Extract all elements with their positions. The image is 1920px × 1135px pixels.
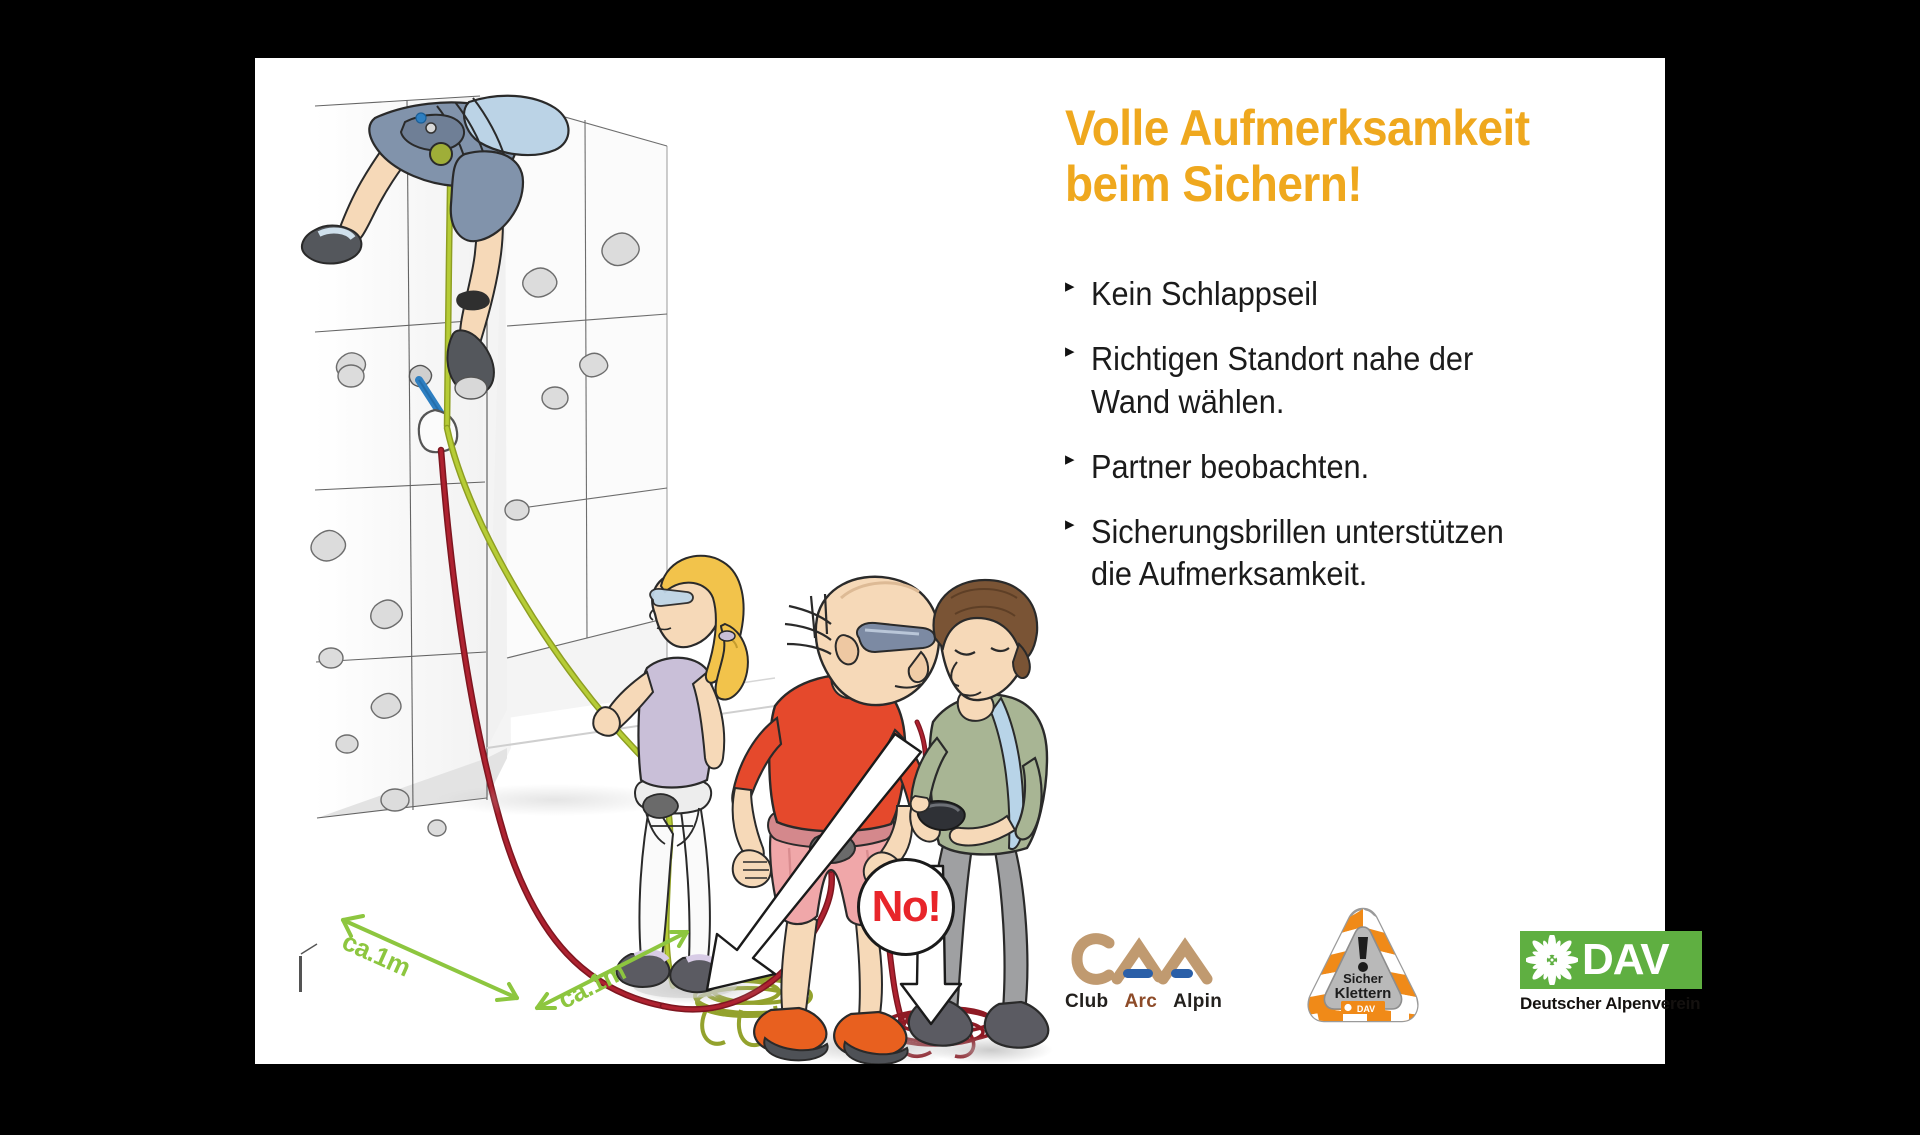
list-item-label: Richtigen Standort nahe der Wand wählen.: [1091, 338, 1473, 424]
climbing-illustration: ca.1m ca.1m No!: [255, 58, 1055, 1064]
list-item-label: Partner beobachten.: [1091, 446, 1369, 489]
poster-card: ca.1m ca.1m No! Volle Aufmerksamkeit bei…: [255, 58, 1665, 1064]
bullet-triangle-icon: ▸: [1065, 446, 1091, 473]
caa-word-alpin: Alpin: [1173, 991, 1222, 1012]
page-title-line-1: Volle Aufmerksamkeit: [1065, 100, 1580, 156]
logo-sicher-klettern: Sicher Klettern DAV: [1303, 903, 1423, 1031]
screenshot-root: ca.1m ca.1m No! Volle Aufmerksamkeit bei…: [0, 0, 1920, 1135]
warning-badge-no: No!: [857, 858, 955, 956]
dav-abbr: DAV: [1582, 938, 1669, 982]
list-item-label: Kein Schlappseil: [1091, 273, 1318, 316]
dav-tag-label: DAV: [1357, 1004, 1375, 1014]
caa-word-arc: Arc: [1124, 991, 1157, 1012]
bullet-triangle-icon: ▸: [1065, 338, 1091, 365]
bullet-triangle-icon: ▸: [1065, 511, 1091, 538]
list-item-label: Sicherungsbrillen unterstützen die Aufme…: [1091, 511, 1504, 597]
club-arc-alpin-mark: [1065, 925, 1225, 989]
credit-watermark: [299, 944, 317, 992]
logo-club-arc-alpin: Club Arc Alpin: [1065, 925, 1225, 1035]
warning-badge-label: No!: [872, 885, 941, 929]
edelweiss-icon: [1526, 935, 1578, 985]
logo-dav: DAV Deutscher Alpenverein: [1520, 931, 1710, 1014]
list-item: ▸ Partner beobachten.: [1065, 446, 1645, 489]
club-arc-alpin-wordmark: Club Arc Alpin: [1065, 991, 1225, 1013]
logo-row: Club Arc Alpin: [1065, 903, 1665, 1033]
list-item: ▸ Sicherungsbrillen unterstützen die Auf…: [1065, 511, 1645, 597]
dav-green-bar: DAV: [1520, 931, 1702, 989]
list-item: ▸ Kein Schlappseil: [1065, 273, 1645, 316]
list-item: ▸ Richtigen Standort nahe der Wand wähle…: [1065, 338, 1645, 424]
dav-subtitle: Deutscher Alpenverein: [1520, 994, 1710, 1014]
bullet-triangle-icon: ▸: [1065, 273, 1091, 300]
safety-rules-list: ▸ Kein Schlappseil ▸ Richtigen Standort …: [1065, 273, 1645, 618]
caa-word-club: Club: [1065, 991, 1108, 1012]
sicher-klettern-line-2: Klettern: [1335, 985, 1392, 1002]
page-title-line-2: beim Sichern!: [1065, 156, 1580, 212]
page-title: Volle Aufmerksamkeit beim Sichern!: [1065, 100, 1580, 212]
sicher-klettern-line-1: Sicher: [1343, 971, 1383, 986]
